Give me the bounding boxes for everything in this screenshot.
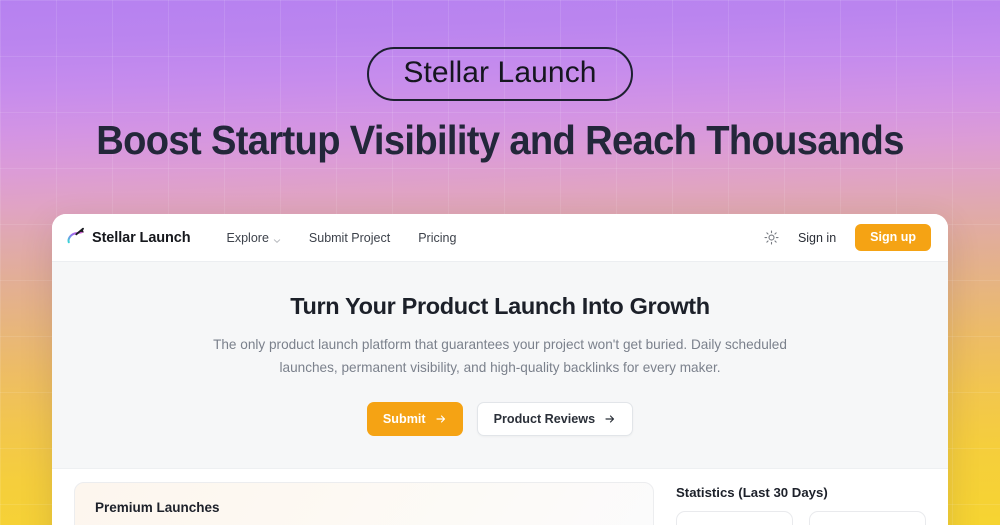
stat-card: 1273 xyxy=(809,511,926,525)
signup-button[interactable]: Sign up xyxy=(855,224,931,251)
brand-name: Stellar Launch xyxy=(92,230,191,246)
hero-title: Turn Your Product Launch Into Growth xyxy=(52,293,948,320)
nav-link-explore[interactable]: Explore xyxy=(227,231,281,245)
sun-icon[interactable] xyxy=(764,230,779,245)
lower-content: Premium Launches Statistics (Last 30 Day… xyxy=(52,469,948,525)
hero-subtitle: The only product launch platform that gu… xyxy=(205,334,795,380)
signin-link[interactable]: Sign in xyxy=(798,231,836,245)
navbar-actions: Sign in Sign up xyxy=(764,224,931,251)
statistics-panel: Statistics (Last 30 Days) 252 1273 xyxy=(676,482,926,525)
screenshot-stage: Stellar Launch Boost Startup Visibility … xyxy=(0,0,1000,525)
premium-launches-title: Premium Launches xyxy=(95,500,633,515)
navbar: Stellar Launch Explore Submit Project Pr… xyxy=(52,214,948,262)
statistics-grid: 252 1273 xyxy=(676,511,926,525)
hero-cta-row: Submit Product Reviews xyxy=(52,402,948,437)
nav-links: Explore Submit Project Pricing xyxy=(227,231,457,245)
promo-headline: Boost Startup Visibility and Reach Thous… xyxy=(35,117,965,164)
comet-icon xyxy=(66,226,85,250)
premium-launches-card[interactable]: Premium Launches xyxy=(74,482,654,525)
submit-button-label: Submit xyxy=(383,413,426,426)
premium-launches-panel: Premium Launches xyxy=(74,482,654,525)
chevron-down-icon xyxy=(273,234,281,242)
nav-link-submit-project[interactable]: Submit Project xyxy=(309,231,390,245)
promo-badge: Stellar Launch xyxy=(367,47,632,101)
stat-card: 252 xyxy=(676,511,793,525)
nav-link-explore-label: Explore xyxy=(227,231,269,245)
arrow-right-icon xyxy=(604,413,616,425)
nav-link-pricing[interactable]: Pricing xyxy=(418,231,456,245)
app-window: Stellar Launch Explore Submit Project Pr… xyxy=(52,214,948,525)
statistics-title: Statistics (Last 30 Days) xyxy=(676,485,926,500)
promo-header: Stellar Launch Boost Startup Visibility … xyxy=(0,0,1000,164)
product-reviews-button-label: Product Reviews xyxy=(494,413,595,426)
hero-section: Turn Your Product Launch Into Growth The… xyxy=(52,262,948,469)
submit-button[interactable]: Submit xyxy=(367,402,463,437)
arrow-right-icon xyxy=(435,413,447,425)
brand-logo[interactable]: Stellar Launch xyxy=(63,226,191,250)
product-reviews-button[interactable]: Product Reviews xyxy=(477,402,633,437)
